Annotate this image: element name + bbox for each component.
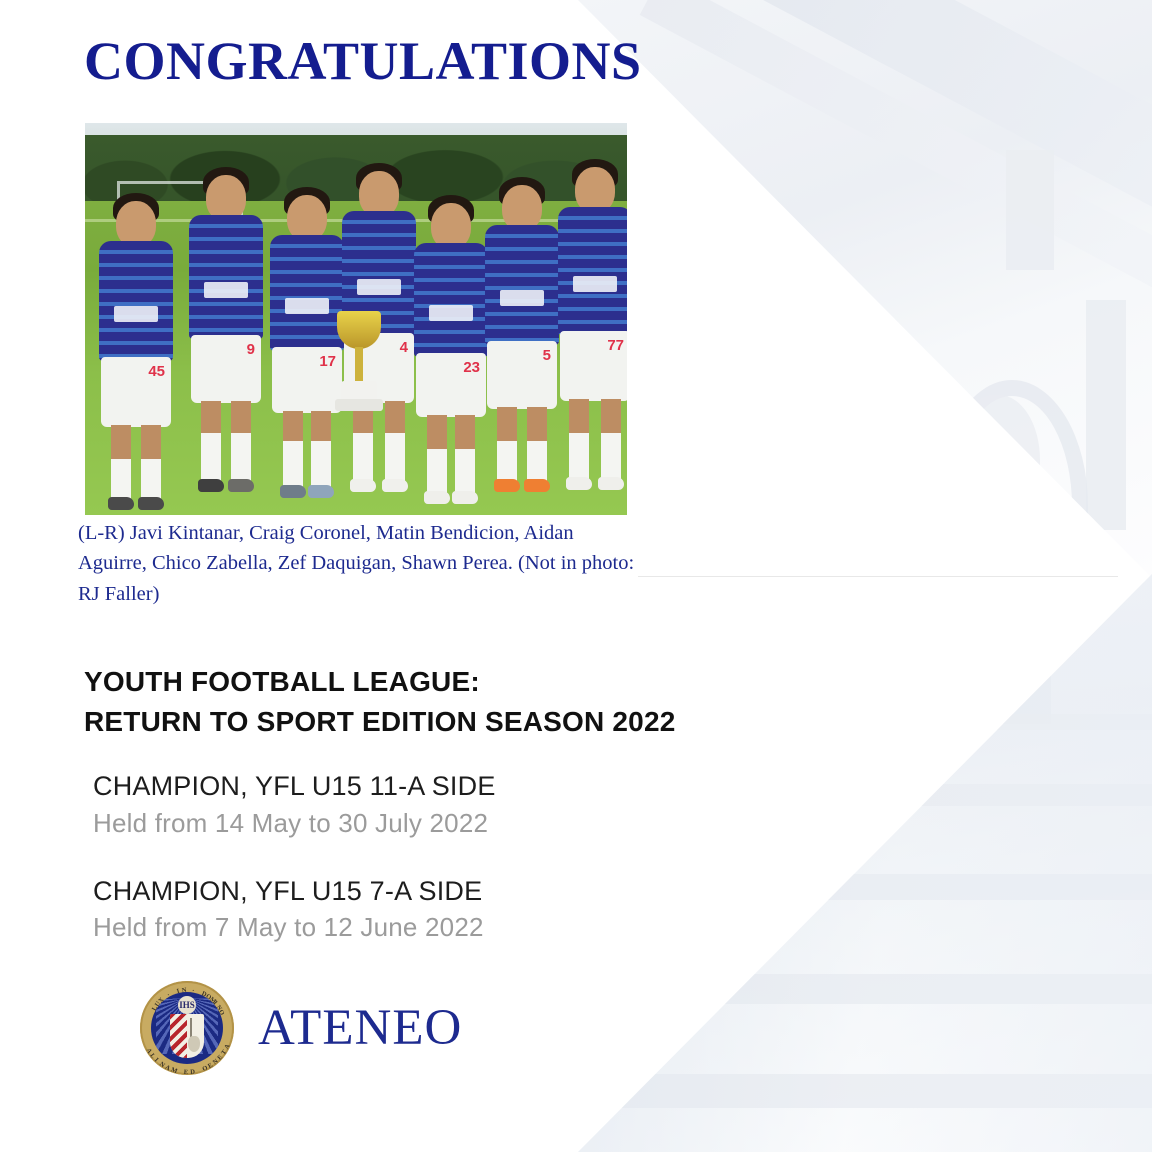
team-photo: 45 9 17 4 bbox=[85, 123, 627, 515]
photo-player: 5 bbox=[485, 171, 559, 515]
player-number: 77 bbox=[607, 337, 624, 354]
league-heading-line-1: YOUTH FOOTBALL LEAGUE: bbox=[84, 662, 676, 702]
league-heading: YOUTH FOOTBALL LEAGUE: RETURN TO SPORT E… bbox=[84, 662, 676, 742]
seal-shield bbox=[170, 1014, 204, 1058]
awards-list: CHAMPION, YFL U15 11-A SIDE Held from 14… bbox=[93, 770, 496, 979]
award-item: CHAMPION, YFL U15 7-A SIDE Held from 7 M… bbox=[93, 875, 496, 946]
photo-player: 23 bbox=[415, 181, 487, 515]
photo-player: 9 bbox=[189, 167, 263, 515]
ateneo-wordmark: ATENEO bbox=[258, 999, 462, 1057]
award-subtitle: Held from 7 May to 12 June 2022 bbox=[93, 911, 496, 945]
award-item: CHAMPION, YFL U15 11-A SIDE Held from 14… bbox=[93, 770, 496, 841]
player-number: 5 bbox=[543, 347, 551, 364]
footer-logo: LUX · IN · DOMINOATENEO DE MANILA IHS AT… bbox=[140, 975, 462, 1081]
player-number: 4 bbox=[400, 339, 408, 356]
ihs-monogram-icon: IHS bbox=[178, 996, 196, 1014]
page-title: CONGRATULATIONS bbox=[84, 30, 642, 92]
player-number: 45 bbox=[148, 363, 165, 380]
league-heading-line-2: RETURN TO SPORT EDITION SEASON 2022 bbox=[84, 702, 676, 742]
player-number: 23 bbox=[463, 359, 480, 376]
ateneo-seal-icon: LUX · IN · DOMINOATENEO DE MANILA IHS bbox=[140, 981, 234, 1075]
award-subtitle: Held from 14 May to 30 July 2022 bbox=[93, 807, 496, 841]
photo-caption: (L-R) Javi Kintanar, Craig Coronel, Mati… bbox=[78, 518, 638, 609]
campus-architecture-image bbox=[566, 0, 1152, 578]
caption-divider bbox=[638, 576, 1118, 577]
player-number: 9 bbox=[247, 341, 255, 358]
decorative-wedge-bottom bbox=[566, 574, 1152, 1152]
photo-player: 45 bbox=[99, 185, 173, 515]
seal-inner-field: IHS bbox=[151, 992, 223, 1064]
award-title: CHAMPION, YFL U15 11-A SIDE bbox=[93, 770, 496, 804]
poster-canvas: CONGRATULATIONS 45 9 17 bbox=[0, 0, 1152, 1152]
photo-player: 77 bbox=[557, 159, 627, 515]
award-title: CHAMPION, YFL U15 7-A SIDE bbox=[93, 875, 496, 909]
decorative-wedge-top bbox=[566, 0, 1152, 578]
campus-walkway-image bbox=[566, 574, 1152, 1152]
trophy bbox=[331, 311, 387, 419]
